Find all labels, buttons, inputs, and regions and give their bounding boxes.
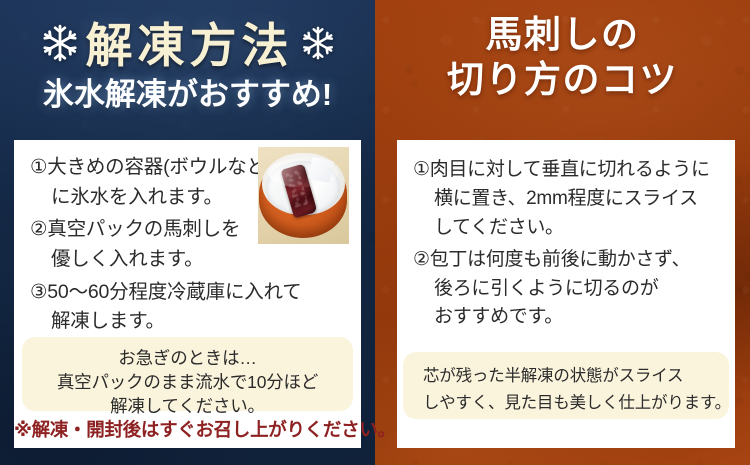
- step-line: ②包丁は何度も前後に動かさず、: [413, 246, 725, 275]
- list-item: ①肉目に対して垂直に切れるように 横に置き、2mm程度にスライス してください。: [413, 156, 725, 243]
- left-panel-title: 解凍方法: [86, 22, 294, 69]
- right-title-line: 切り方のコツ: [375, 57, 750, 102]
- step-line: ①肉目に対して垂直に切れるように: [413, 156, 725, 185]
- right-panel-card: ①肉目に対して垂直に切れるように 横に置き、2mm程度にスライス してください。…: [397, 140, 735, 448]
- slicing-tip-box: 芯が残った半解凍の状態がスライス しやすく、見た目も美しく仕上がります。: [403, 352, 729, 419]
- note-line: しやすく、見た目も美しく仕上がります。: [423, 390, 729, 417]
- left-panel-subtitle: 氷水解凍がおすすめ!: [0, 78, 375, 111]
- thaw-and-slice-instruction-graphic: 解凍方法 氷水解凍がおすすめ!: [0, 0, 750, 465]
- slicing-steps-list: ①肉目に対して垂直に切れるように 横に置き、2mm程度にスライス してください。…: [413, 156, 725, 335]
- step-line: 優しく入れます。: [30, 245, 348, 275]
- ice-water-bowl-photo: [258, 147, 349, 244]
- film-fold-edge: [308, 157, 334, 183]
- snowflake-icon: [40, 23, 80, 68]
- eat-immediately-warning: ※解凍・開封後はすぐお召し上がりください。: [14, 416, 361, 442]
- note-line: お急ぎのときは…: [22, 346, 353, 370]
- left-title-row: 解凍方法: [0, 14, 375, 76]
- step-line: してください。: [413, 214, 725, 243]
- step-line: 横に置き、2mm程度にスライス: [413, 185, 725, 214]
- left-panel-header: 解凍方法 氷水解凍がおすすめ!: [0, 14, 375, 111]
- right-title-line: 馬刺しの: [375, 12, 750, 57]
- step-line: 解凍します。: [30, 307, 348, 337]
- note-line: 真空パックのまま流水で10分ほど: [22, 370, 353, 394]
- left-panel-card: ①大きめの容器(ボウルなど) に氷水を入れます。 ②真空パックの馬刺しを 優しく…: [14, 140, 361, 448]
- step-line: ③50〜60分程度冷蔵庫に入れて: [30, 278, 348, 308]
- hurry-note-box: お急ぎのときは… 真空パックのまま流水で10分ほど 解凍してください。: [22, 337, 353, 411]
- note-line: 芯が残った半解凍の状態がスライス: [423, 363, 729, 390]
- step-line: おすすめです。: [413, 303, 725, 332]
- snowflake-icon: [300, 25, 336, 66]
- right-panel-title: 馬刺しの 切り方のコツ: [375, 12, 750, 102]
- right-panel-header: 馬刺しの 切り方のコツ: [375, 12, 750, 102]
- list-item: ③50〜60分程度冷蔵庫に入れて 解凍します。: [30, 278, 348, 337]
- list-item: ②包丁は何度も前後に動かさず、 後ろに引くように切るのが おすすめです。: [413, 246, 725, 333]
- note-line: 解凍してください。: [22, 394, 353, 418]
- step-line: 後ろに引くように切るのが: [413, 275, 725, 304]
